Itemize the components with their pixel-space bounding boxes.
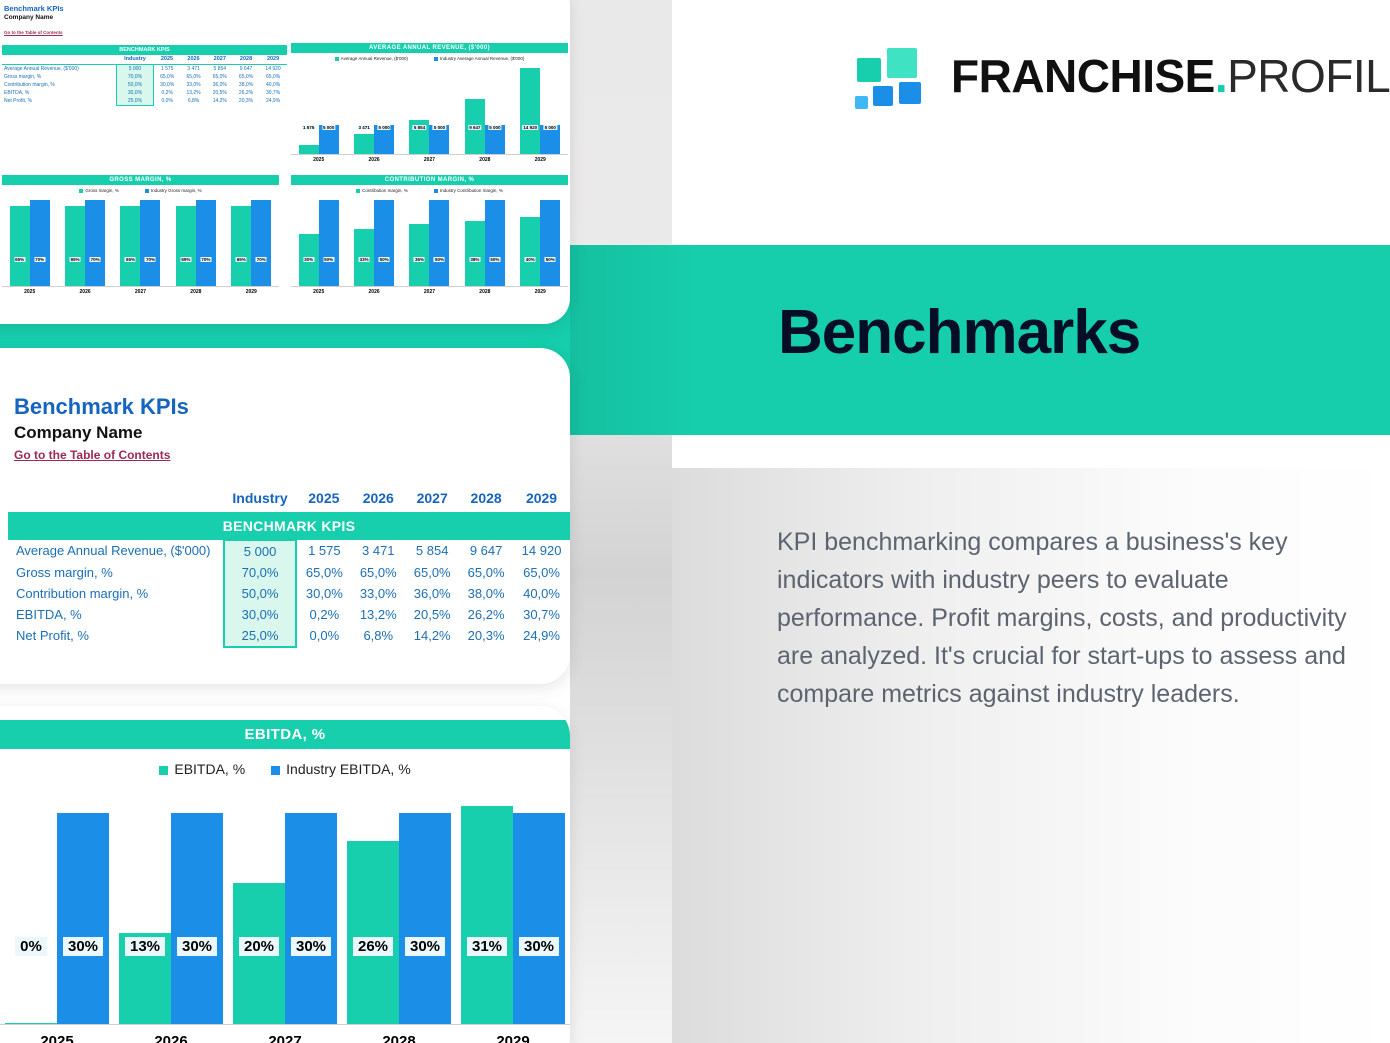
cell-industry: 50,0% bbox=[224, 583, 297, 604]
mini-col-blank bbox=[2, 55, 116, 63]
bar-value-label: 50% bbox=[379, 257, 390, 262]
bar-company: 3 471 bbox=[354, 134, 374, 154]
cell-2027: 36,0% bbox=[405, 583, 459, 604]
cell-2026: 6,8% bbox=[351, 625, 405, 647]
bar-company: 36% bbox=[409, 224, 429, 286]
cell-2029: 30,7% bbox=[513, 604, 570, 625]
table-row: Net Profit, %25,0%0,0%6,8%14,2%20,3%24,9… bbox=[2, 97, 287, 106]
bar-company: 65% bbox=[120, 206, 140, 286]
bar-industry: 70% bbox=[85, 200, 105, 286]
bar-industry: 5 000 bbox=[485, 125, 505, 154]
bar-group: 20%30% bbox=[233, 803, 337, 1024]
cell-industry: 25,0% bbox=[224, 625, 297, 647]
cell-2026: 3 471 bbox=[351, 540, 405, 562]
bar-group: 13%30% bbox=[119, 803, 223, 1024]
bar-group: 65%70% bbox=[231, 197, 271, 286]
bar-industry: 70% bbox=[251, 200, 271, 286]
legend-item-industry: Industry EBITDA, % bbox=[271, 761, 410, 777]
bar-value-label: 30% bbox=[519, 937, 559, 956]
table-row: Contribution margin, %50,0%30,0%33,0%36,… bbox=[2, 81, 287, 89]
col-header-industry: Industry bbox=[224, 486, 297, 510]
x-tick-label: 2029 bbox=[458, 1033, 568, 1043]
x-tick-label: 2029 bbox=[228, 289, 274, 295]
logo-squares-icon bbox=[855, 48, 929, 104]
col-header-2027: 2027 bbox=[405, 486, 459, 510]
legend-item-company: Contribution margin, % bbox=[356, 188, 408, 193]
x-tick-label: 2027 bbox=[117, 289, 163, 295]
bar-value-label: 3 471 bbox=[357, 125, 370, 130]
brand-logo: FRANCHISE.PROFILES bbox=[855, 48, 1390, 104]
col-header-2025: 2025 bbox=[296, 486, 351, 510]
bar-company: 13% bbox=[119, 933, 171, 1024]
table-row: Average Annual Revenue, ($'000)5 0001 57… bbox=[8, 540, 570, 562]
mini-sheet-heading: Benchmark KPIs bbox=[4, 4, 64, 13]
bar-value-label: 5 000 bbox=[377, 125, 390, 130]
cell-2025: 0,2% bbox=[296, 604, 351, 625]
bar-value-label: 5 000 bbox=[488, 125, 501, 130]
bar-group: 36%50% bbox=[409, 197, 449, 286]
col-header-2029: 2029 bbox=[513, 486, 570, 510]
bar-industry: 50% bbox=[319, 200, 339, 286]
teal-band-shadow bbox=[570, 245, 700, 435]
chart-plot-area: 65%70%65%70%65%70%65%70%65%70% bbox=[2, 197, 279, 287]
chart-legend: Gross margin, % Industry Gross margin, % bbox=[2, 188, 279, 193]
x-tick-label: 2025 bbox=[296, 157, 342, 163]
bar-value-label: 50% bbox=[489, 257, 500, 262]
chart-x-axis-ebitda: 20252026202720282029 bbox=[0, 1033, 570, 1043]
bar-industry: 50% bbox=[429, 200, 449, 286]
table-row: EBITDA, %30,0%0,2%13,2%20,5%26,2%30,7% bbox=[8, 604, 570, 625]
bar-value-label: 5 000 bbox=[433, 125, 446, 130]
toc-link[interactable]: Go to the Table of Contents bbox=[14, 448, 170, 462]
cell-2027: 65,0% bbox=[405, 562, 459, 583]
cell-2025: 1 575 bbox=[296, 540, 351, 562]
bar-value-label: 65% bbox=[236, 257, 247, 262]
row-label: EBITDA, % bbox=[8, 604, 224, 625]
cell-industry: 30,0% bbox=[224, 604, 297, 625]
bar-industry: 30% bbox=[399, 813, 451, 1024]
bar-company: 65% bbox=[10, 206, 30, 286]
chart-legend-ebitda: EBITDA, % Industry EBITDA, % bbox=[0, 761, 570, 777]
cell-2027: 5 854 bbox=[405, 540, 459, 562]
bar-value-label: 1 575 bbox=[302, 125, 315, 130]
bar-group: 14 9205 000 bbox=[520, 65, 560, 154]
cell-2026: 33,0% bbox=[351, 583, 405, 604]
bar-value-label: 50% bbox=[434, 257, 445, 262]
mini-chart-avg-annual-revenue[interactable]: AVERAGE ANNUAL REVENUE, ($'000) Average … bbox=[291, 43, 568, 163]
bar-group: 0%30% bbox=[5, 803, 109, 1024]
cell-2028: 26,2% bbox=[459, 604, 513, 625]
bar-group: 30%50% bbox=[299, 197, 339, 286]
chart-title-ebitda: EBITDA, % bbox=[0, 720, 570, 749]
legend-item-industry: Industry Contribution margin, % bbox=[434, 188, 503, 193]
screenshot-card-kpi-table[interactable]: Benchmark KPIs Company Name Go to the Ta… bbox=[0, 348, 570, 684]
bar-value-label: 26% bbox=[353, 937, 393, 956]
bar-value-label: 30% bbox=[291, 937, 331, 956]
sheet-subheading: Company Name bbox=[14, 423, 570, 443]
bar-value-label: 5 854 bbox=[413, 125, 426, 130]
bar-group: 3 4715 000 bbox=[354, 65, 394, 154]
mini-col-2029: 2029 bbox=[259, 55, 287, 63]
bar-group: 9 6475 000 bbox=[465, 65, 505, 154]
bar-group: 65%70% bbox=[10, 197, 50, 286]
legend-item-industry: Industry Average Annual Revenue, ($'000) bbox=[434, 56, 524, 61]
bar-company: 65% bbox=[231, 206, 251, 286]
mini-benchmark-table: BENCHMARK KPIS Industry 2025 2026 2027 2… bbox=[2, 45, 287, 106]
chart-legend: Average Annual Revenue, ($'000) Industry… bbox=[291, 56, 568, 61]
row-label: Net Profit, % bbox=[8, 625, 224, 647]
cell-industry: 70,0% bbox=[224, 562, 297, 583]
bar-industry: 5 000 bbox=[540, 125, 560, 154]
bar-group: 26%30% bbox=[347, 803, 451, 1024]
chart-title: AVERAGE ANNUAL REVENUE, ($'000) bbox=[291, 43, 568, 53]
chart-title: GROSS MARGIN, % bbox=[2, 175, 279, 185]
page-title: Benchmarks bbox=[778, 302, 1140, 364]
table-row: Gross margin, %70,0%65,0%65,0%65,0%65,0%… bbox=[2, 73, 287, 81]
row-label: Contribution margin, % bbox=[8, 583, 224, 604]
table-body: Average Annual Revenue, ($'000)5 0001 57… bbox=[8, 540, 570, 647]
bar-value-label: 65% bbox=[125, 257, 136, 262]
x-tick-label: 2026 bbox=[116, 1033, 226, 1043]
x-tick-label: 2025 bbox=[2, 1033, 112, 1043]
bar-industry: 50% bbox=[485, 200, 505, 286]
cell-2025: 0,0% bbox=[296, 625, 351, 647]
mini-sheet-subheading: Company Name bbox=[4, 14, 64, 21]
bar-value-label: 65% bbox=[14, 257, 25, 262]
cell-2029: 40,0% bbox=[513, 583, 570, 604]
logo-dot: . bbox=[1215, 50, 1227, 102]
table-row: Net Profit, %25,0%0,0%6,8%14,2%20,3%24,9… bbox=[8, 625, 570, 647]
bar-company: 65% bbox=[65, 206, 85, 286]
bar-company: 33% bbox=[354, 229, 374, 286]
bar-company: 26% bbox=[347, 841, 399, 1024]
bar-industry: 70% bbox=[140, 200, 160, 286]
bar-value-label: 70% bbox=[200, 257, 211, 262]
bar-value-label: 13% bbox=[125, 937, 165, 956]
bar-value-label: 30% bbox=[303, 257, 314, 262]
bar-industry: 30% bbox=[285, 813, 337, 1024]
bar-company: 9 647 bbox=[465, 99, 485, 154]
bar-industry: 30% bbox=[171, 813, 223, 1024]
x-tick-label: 2028 bbox=[173, 289, 219, 295]
cell-2028: 38,0% bbox=[459, 583, 513, 604]
bar-value-label: 9 647 bbox=[468, 125, 481, 130]
bar-value-label: 14 920 bbox=[522, 125, 538, 130]
cell-2028: 20,3% bbox=[459, 625, 513, 647]
cell-industry: 5 000 bbox=[224, 540, 297, 562]
cell-2025: 65,0% bbox=[296, 562, 351, 583]
table-row: Average Annual Revenue, ($'000)5 0001 57… bbox=[2, 64, 287, 73]
row-label: Average Annual Revenue, ($'000) bbox=[8, 540, 224, 562]
bar-value-label: 70% bbox=[34, 257, 45, 262]
bar-value-label: 30% bbox=[177, 937, 217, 956]
bar-value-label: 30% bbox=[63, 937, 103, 956]
bar-group: 33%50% bbox=[354, 197, 394, 286]
col-header-2028: 2028 bbox=[459, 486, 513, 510]
legend-item-company: Gross margin, % bbox=[79, 188, 119, 193]
legend-item-industry: Industry Gross margin, % bbox=[145, 188, 202, 193]
bar-company: 31% bbox=[461, 806, 513, 1024]
hero-paragraph: KPI benchmarking compares a business's k… bbox=[777, 523, 1357, 713]
bar-group: 65%70% bbox=[120, 197, 160, 286]
bar-value-label: 70% bbox=[145, 257, 156, 262]
bar-company: 20% bbox=[233, 883, 285, 1024]
screenshot-card-ebitda-chart[interactable]: EBITDA, % EBITDA, % Industry EBITDA, % 0… bbox=[0, 706, 570, 1043]
bar-company: 65% bbox=[176, 206, 196, 286]
cell-2026: 65,0% bbox=[351, 562, 405, 583]
bar-company: 30% bbox=[299, 234, 319, 286]
screenshot-card-dashboard[interactable]: Benchmark KPIs Company Name Go to the Ta… bbox=[0, 0, 570, 324]
x-tick-label: 2027 bbox=[230, 1033, 340, 1043]
table-row: Gross margin, %70,0%65,0%65,0%65,0%65,0%… bbox=[8, 562, 570, 583]
bar-value-label: 30% bbox=[405, 937, 445, 956]
cell-2029: 14 920 bbox=[513, 540, 570, 562]
col-header-2026: 2026 bbox=[351, 486, 405, 510]
bar-industry: 5 000 bbox=[429, 125, 449, 154]
bar-value-label: 70% bbox=[256, 257, 267, 262]
cell-2028: 65,0% bbox=[459, 562, 513, 583]
bar-value-label: 36% bbox=[414, 257, 425, 262]
chart-plot-area-ebitda: 0%30%13%30%20%30%26%30%31%30% bbox=[0, 803, 570, 1025]
chart-title: CONTRIBUTION MARGIN, % bbox=[291, 175, 568, 185]
bar-industry: 5 000 bbox=[319, 125, 339, 154]
cell-2026: 13,2% bbox=[351, 604, 405, 625]
bar-group: 31%30% bbox=[461, 803, 565, 1024]
bar-value-label: 31% bbox=[467, 937, 507, 956]
chart-x-axis: 20252026202720282029 bbox=[291, 289, 568, 295]
bar-group: 1 5755 000 bbox=[299, 65, 339, 154]
col-header-blank bbox=[8, 486, 224, 510]
mini-col-2027: 2027 bbox=[207, 55, 233, 63]
bar-group: 65%70% bbox=[176, 197, 216, 286]
bar-group: 5 8545 000 bbox=[409, 65, 449, 154]
legend-item-company: EBITDA, % bbox=[159, 761, 245, 777]
x-tick-label: 2029 bbox=[517, 157, 563, 163]
x-tick-label: 2026 bbox=[62, 289, 108, 295]
logo-word-franchise: FRANCHISE bbox=[951, 50, 1215, 102]
mini-col-industry: Industry bbox=[116, 55, 153, 63]
mini-table-band: BENCHMARK KPIS bbox=[2, 45, 287, 55]
cell-2025: 30,0% bbox=[296, 583, 351, 604]
x-tick-label: 2026 bbox=[351, 289, 397, 295]
bar-group: 38%50% bbox=[465, 197, 505, 286]
bar-value-label: 50% bbox=[545, 257, 556, 262]
mini-col-2025: 2025 bbox=[153, 55, 180, 63]
cell-2028: 9 647 bbox=[459, 540, 513, 562]
bar-company: 5 854 bbox=[409, 120, 429, 154]
table-band-title: BENCHMARK KPIS bbox=[8, 512, 570, 540]
x-tick-label: 2025 bbox=[7, 289, 53, 295]
logo-word-profiles: PROFILES bbox=[1227, 50, 1390, 102]
cell-2027: 14,2% bbox=[405, 625, 459, 647]
table-row: EBITDA, %30,0%0,2%13,2%20,5%26,2%30,7% bbox=[2, 89, 287, 97]
x-tick-label: 2026 bbox=[351, 157, 397, 163]
bar-value-label: 5 000 bbox=[322, 125, 335, 130]
bar-group: 40%50% bbox=[520, 197, 560, 286]
cell-2029: 24,9% bbox=[513, 625, 570, 647]
bar-value-label: 70% bbox=[90, 257, 101, 262]
x-tick-label: 2027 bbox=[406, 157, 452, 163]
benchmark-kpi-table: BENCHMARK KPIS Industry 2025 2026 2027 2… bbox=[8, 486, 570, 648]
x-tick-label: 2028 bbox=[462, 157, 508, 163]
row-label: Gross margin, % bbox=[8, 562, 224, 583]
bar-group: 65%70% bbox=[65, 197, 105, 286]
logo-wordmark: FRANCHISE.PROFILES bbox=[951, 53, 1390, 99]
bar-industry: 30% bbox=[57, 813, 109, 1024]
background-gray-column bbox=[570, 0, 672, 1043]
bar-value-label: 65% bbox=[70, 257, 81, 262]
chart-x-axis: 20252026202720282029 bbox=[291, 157, 568, 163]
bar-company: 1 575 bbox=[299, 145, 319, 154]
bar-industry: 70% bbox=[196, 200, 216, 286]
bar-value-label: 0% bbox=[15, 937, 47, 956]
x-tick-label: 2028 bbox=[344, 1033, 454, 1043]
bar-company: 38% bbox=[465, 221, 485, 286]
x-tick-label: 2028 bbox=[462, 289, 508, 295]
mini-col-2026: 2026 bbox=[180, 55, 206, 63]
bar-value-label: 40% bbox=[525, 257, 536, 262]
bar-value-label: 5 000 bbox=[544, 125, 557, 130]
x-tick-label: 2027 bbox=[406, 289, 452, 295]
chart-plot-area: 1 5755 0003 4715 0005 8545 0009 6475 000… bbox=[291, 65, 568, 155]
bar-industry: 50% bbox=[374, 200, 394, 286]
bar-industry: 30% bbox=[513, 813, 565, 1024]
bar-industry: 50% bbox=[540, 200, 560, 286]
mini-col-2028: 2028 bbox=[233, 55, 259, 63]
table-row: Contribution margin, %50,0%30,0%33,0%36,… bbox=[8, 583, 570, 604]
bar-value-label: 65% bbox=[180, 257, 191, 262]
bar-value-label: 20% bbox=[239, 937, 279, 956]
mini-chart-gross-margin[interactable]: GROSS MARGIN, % Gross margin, % Industry… bbox=[2, 175, 279, 295]
bar-company: 14 920 bbox=[520, 68, 540, 154]
bar-value-label: 38% bbox=[469, 257, 480, 262]
chart-plot-area: 30%50%33%50%36%50%38%50%40%50% bbox=[291, 197, 568, 287]
legend-item-company: Average Annual Revenue, ($'000) bbox=[335, 56, 408, 61]
bar-company: 0% bbox=[5, 1023, 57, 1024]
bar-company: 40% bbox=[520, 217, 540, 286]
bar-industry: 70% bbox=[30, 200, 50, 286]
bar-industry: 5 000 bbox=[374, 125, 394, 154]
cell-2027: 20,5% bbox=[405, 604, 459, 625]
bar-value-label: 33% bbox=[359, 257, 370, 262]
cell-2029: 65,0% bbox=[513, 562, 570, 583]
mini-toc-link[interactable]: Go to the Table of Contents bbox=[4, 30, 63, 35]
x-tick-label: 2029 bbox=[517, 289, 563, 295]
bar-value-label: 50% bbox=[323, 257, 334, 262]
mini-table-body: Average Annual Revenue, ($'000)5 0001 57… bbox=[2, 64, 287, 105]
mini-chart-contribution-margin[interactable]: CONTRIBUTION MARGIN, % Contribution marg… bbox=[291, 175, 568, 295]
chart-legend: Contribution margin, % Industry Contribu… bbox=[291, 188, 568, 193]
sheet-heading: Benchmark KPIs bbox=[14, 394, 570, 420]
x-tick-label: 2025 bbox=[296, 289, 342, 295]
chart-x-axis: 20252026202720282029 bbox=[2, 289, 279, 295]
